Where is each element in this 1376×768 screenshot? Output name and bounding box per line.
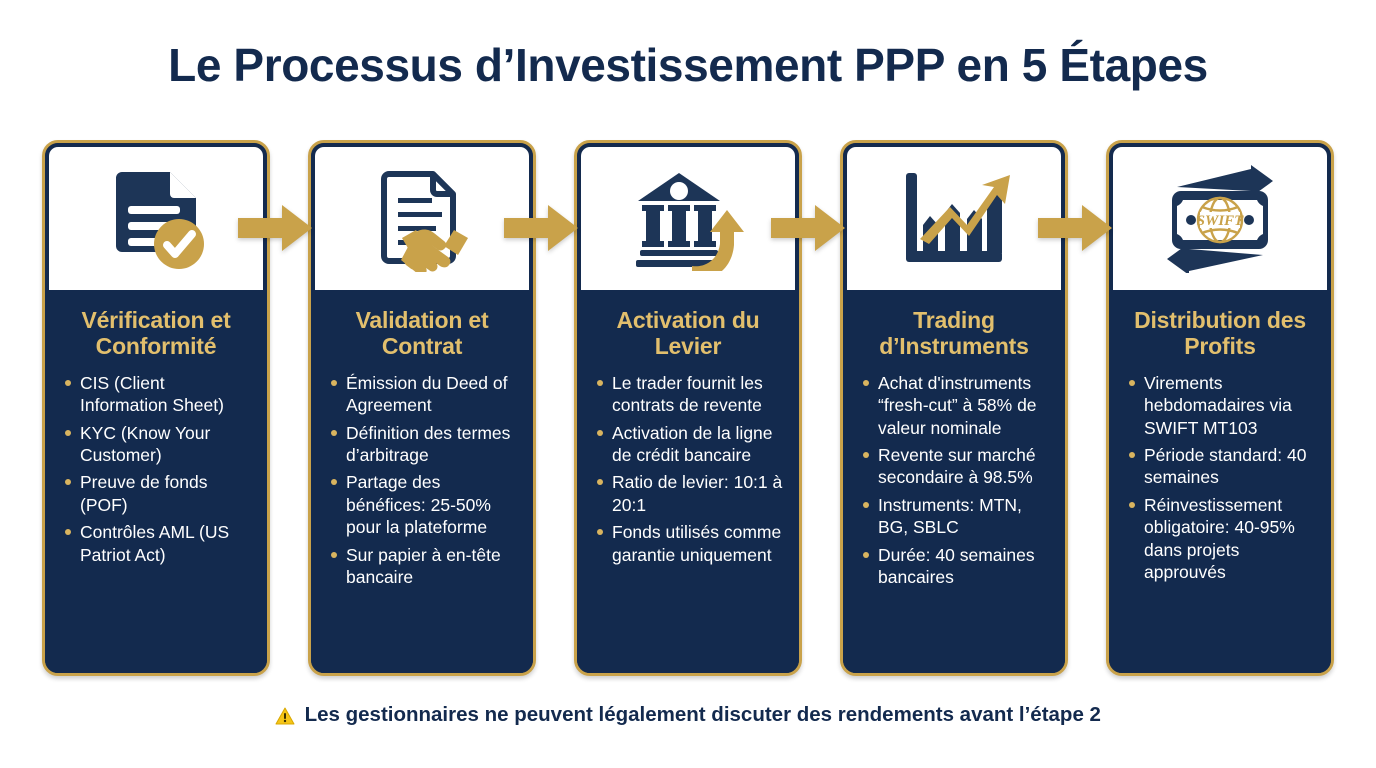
step-5-bullet-list: Virements hebdomadaires via SWIFT MT103 … [1121,372,1319,589]
step-card-3[interactable]: Activation du Levier Le trader fournit l… [574,140,802,676]
list-item: Émission du Deed of Agreement [329,372,519,417]
step-2-bullet-list: Émission du Deed of Agreement Définition… [323,372,521,594]
step-4-body: Trading d’Instruments Achat d'instrument… [843,293,1065,673]
list-item: Virements hebdomadaires via SWIFT MT103 [1127,372,1317,439]
list-item: Durée: 40 semaines bancaires [861,544,1051,589]
list-item: Ratio de levier: 10:1 à 20:1 [595,471,785,516]
step-4-title: Trading d’Instruments [855,307,1053,360]
step-4-icon-panel [843,143,1065,293]
footer-warning-text: Les gestionnaires ne peuvent légalement … [305,703,1101,726]
step-card-1[interactable]: Vérification et Conformité CIS (Client I… [42,140,270,676]
list-item: Période standard: 40 semaines [1127,444,1317,489]
list-item: Partage des bénéfices: 25-50% pour la pl… [329,471,519,538]
step-1-title: Vérification et Conformité [57,307,255,360]
list-item: Activation de la ligne de crédit bancair… [595,422,785,467]
step-4-bullet-list: Achat d'instruments “fresh-cut” à 58% de… [855,372,1053,594]
list-item: CIS (Client Information Sheet) [63,372,253,417]
step-3-body: Activation du Levier Le trader fournit l… [577,293,799,673]
step-5-body: Distribution des Profits Virements hebdo… [1109,293,1331,673]
step-card-5[interactable]: SWIFT Distribution des Profits Virements… [1106,140,1334,676]
contract-handshake-icon [369,166,475,272]
page-title: Le Processus d’Investissement PPP en 5 É… [0,38,1376,92]
list-item: KYC (Know Your Customer) [63,422,253,467]
list-item: Sur papier à en-tête bancaire [329,544,519,589]
list-item: Revente sur marché secondaire à 98.5% [861,444,1051,489]
list-item: Réinvestissement obligatoire: 40-95% dan… [1127,494,1317,584]
step-card-4[interactable]: Trading d’Instruments Achat d'instrument… [840,140,1068,676]
list-item: Fonds utilisés comme garantie uniquement [595,521,785,566]
step-5-icon-panel: SWIFT [1109,143,1331,293]
step-5-title: Distribution des Profits [1121,307,1319,360]
document-check-icon [104,166,208,272]
warning-triangle-icon [275,705,301,727]
step-1-body: Vérification et Conformité CIS (Client I… [45,293,267,673]
step-3-bullet-list: Le trader fournit les contrats de revent… [589,372,787,571]
list-item: Preuve de fonds (POF) [63,471,253,516]
footer-warning: Les gestionnaires ne peuvent légalement … [0,703,1376,728]
growth-bar-chart-icon [898,167,1010,271]
bank-arrow-up-icon [632,167,744,271]
list-item: Instruments: MTN, BG, SBLC [861,494,1051,539]
list-item: Le trader fournit les contrats de revent… [595,372,785,417]
step-1-icon-panel [45,143,267,293]
svg-text:SWIFT: SWIFT [1197,213,1245,229]
list-item: Achat d'instruments “fresh-cut” à 58% de… [861,372,1051,439]
step-2-title: Validation et Contrat [323,307,521,360]
step-2-body: Validation et Contrat Émission du Deed o… [311,293,533,673]
swift-banknote-transfer-icon: SWIFT [1159,165,1281,273]
step-2-icon-panel [311,143,533,293]
step-3-title: Activation du Levier [589,307,787,360]
list-item: Contrôles AML (US Patriot Act) [63,521,253,566]
step-1-bullet-list: CIS (Client Information Sheet) KYC (Know… [57,372,255,571]
process-steps-container: Vérification et Conformité CIS (Client I… [42,140,1336,676]
step-3-icon-panel [577,143,799,293]
step-card-2[interactable]: Validation et Contrat Émission du Deed o… [308,140,536,676]
list-item: Définition des termes d’arbitrage [329,422,519,467]
